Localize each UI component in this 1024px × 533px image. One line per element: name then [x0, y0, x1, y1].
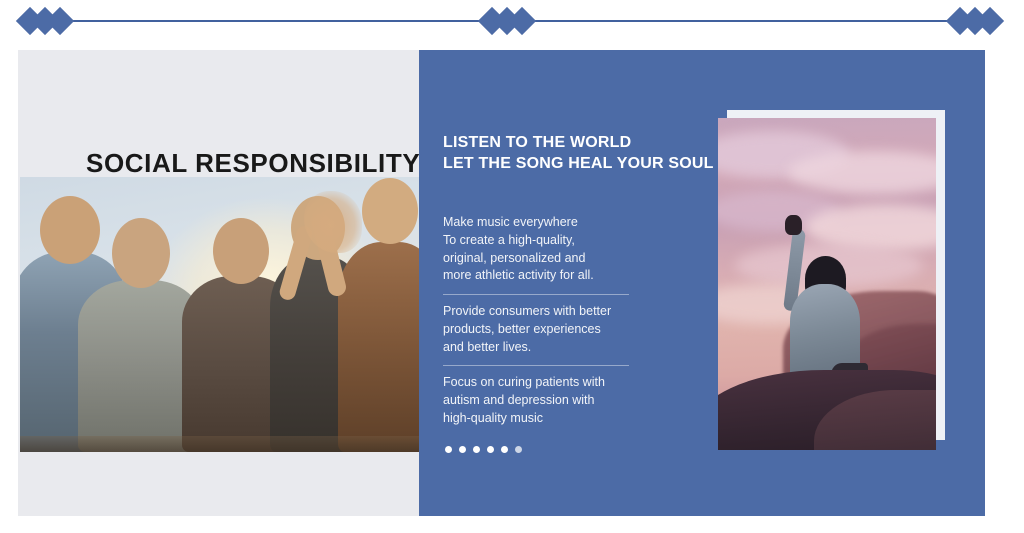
diamond-cluster-left [20, 4, 88, 38]
headline-line-1: LISTEN TO THE WORLD [443, 132, 714, 153]
page-title: SOCIAL RESPONSIBILITY [86, 148, 420, 179]
photo-person-head [112, 218, 170, 288]
progress-dot[interactable] [473, 446, 480, 453]
photo-person-figure [338, 242, 420, 452]
top-decoration-bar [0, 0, 1024, 42]
people-photo [20, 177, 420, 452]
panel-headline: LISTEN TO THE WORLD LET THE SONG HEAL YO… [443, 132, 714, 174]
paragraph-2-line-2: products, better experiences [443, 321, 643, 339]
paragraph-3: Focus on curing patients with autism and… [443, 374, 643, 427]
headline-line-2: LET THE SONG HEAL YOUR SOUL [443, 153, 714, 174]
paragraph-1: Make music everywhere To create a high-q… [443, 214, 643, 285]
progress-dot[interactable] [445, 446, 452, 453]
progress-dot[interactable] [515, 446, 522, 453]
mountain-photo [718, 118, 936, 450]
paragraph-2: Provide consumers with better products, … [443, 303, 643, 356]
diamond-cluster-right [950, 4, 1018, 38]
paragraph-divider [443, 365, 629, 366]
paragraph-1-line-4: more athletic activity for all. [443, 267, 643, 285]
photo-ground [20, 436, 420, 452]
paragraph-divider [443, 294, 629, 295]
slide-root: SOCIAL RESPONSIBILITY LISTEN TO THE WORL… [0, 0, 1024, 533]
paragraph-2-line-1: Provide consumers with better [443, 303, 643, 321]
paragraph-2-line-3: and better lives. [443, 339, 643, 357]
panel-body-text: Make music everywhere To create a high-q… [443, 214, 643, 428]
paragraph-3-line-2: autism and depression with [443, 392, 643, 410]
progress-dot[interactable] [501, 446, 508, 453]
photo-person-head [40, 196, 100, 264]
slide-progress-dots[interactable] [445, 446, 522, 453]
progress-dot[interactable] [487, 446, 494, 453]
photo-person-fist [785, 215, 802, 235]
diamond-cluster-center [482, 4, 550, 38]
progress-dot[interactable] [459, 446, 466, 453]
paragraph-3-line-3: high-quality music [443, 410, 643, 428]
paragraph-1-line-3: original, personalized and [443, 250, 643, 268]
paragraph-1-line-1: Make music everywhere [443, 214, 643, 232]
paragraph-3-line-1: Focus on curing patients with [443, 374, 643, 392]
photo-person-head [213, 218, 269, 284]
paragraph-1-line-2: To create a high-quality, [443, 232, 643, 250]
photo-person-head [362, 178, 418, 244]
